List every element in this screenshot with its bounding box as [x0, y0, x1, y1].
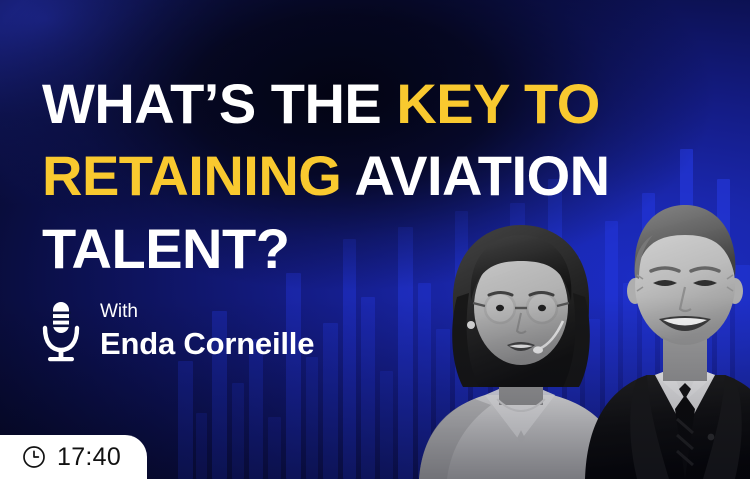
page-title-accent-text: KEY TO [396, 72, 599, 135]
page-title-line-1: WHAT’S THE KEY TO [42, 68, 722, 141]
presenter-block: With Enda Corneille [38, 300, 314, 362]
page-title-text: AVIATION [341, 144, 609, 207]
duration-value: 17:40 [57, 445, 121, 470]
duration-badge: 17:40 [0, 435, 147, 479]
page-title: WHAT’S THE KEY TORETAINING AVIATIONTALEN… [42, 68, 722, 286]
presenter-with-label: With [100, 301, 314, 323]
presenter-name: Enda Corneille [100, 327, 314, 361]
page-title-accent-text: RETAINING [42, 144, 341, 207]
page-title-line-3: TALENT? [42, 213, 722, 286]
clock-icon [22, 445, 46, 469]
page-title-text: WHAT’S THE [42, 72, 396, 135]
page-title-text: TALENT? [42, 217, 289, 280]
page-title-line-2: RETAINING AVIATION [42, 140, 722, 213]
video-thumbnail-card[interactable]: WHAT’S THE KEY TORETAINING AVIATIONTALEN… [0, 0, 750, 479]
microphone-icon [38, 300, 84, 362]
